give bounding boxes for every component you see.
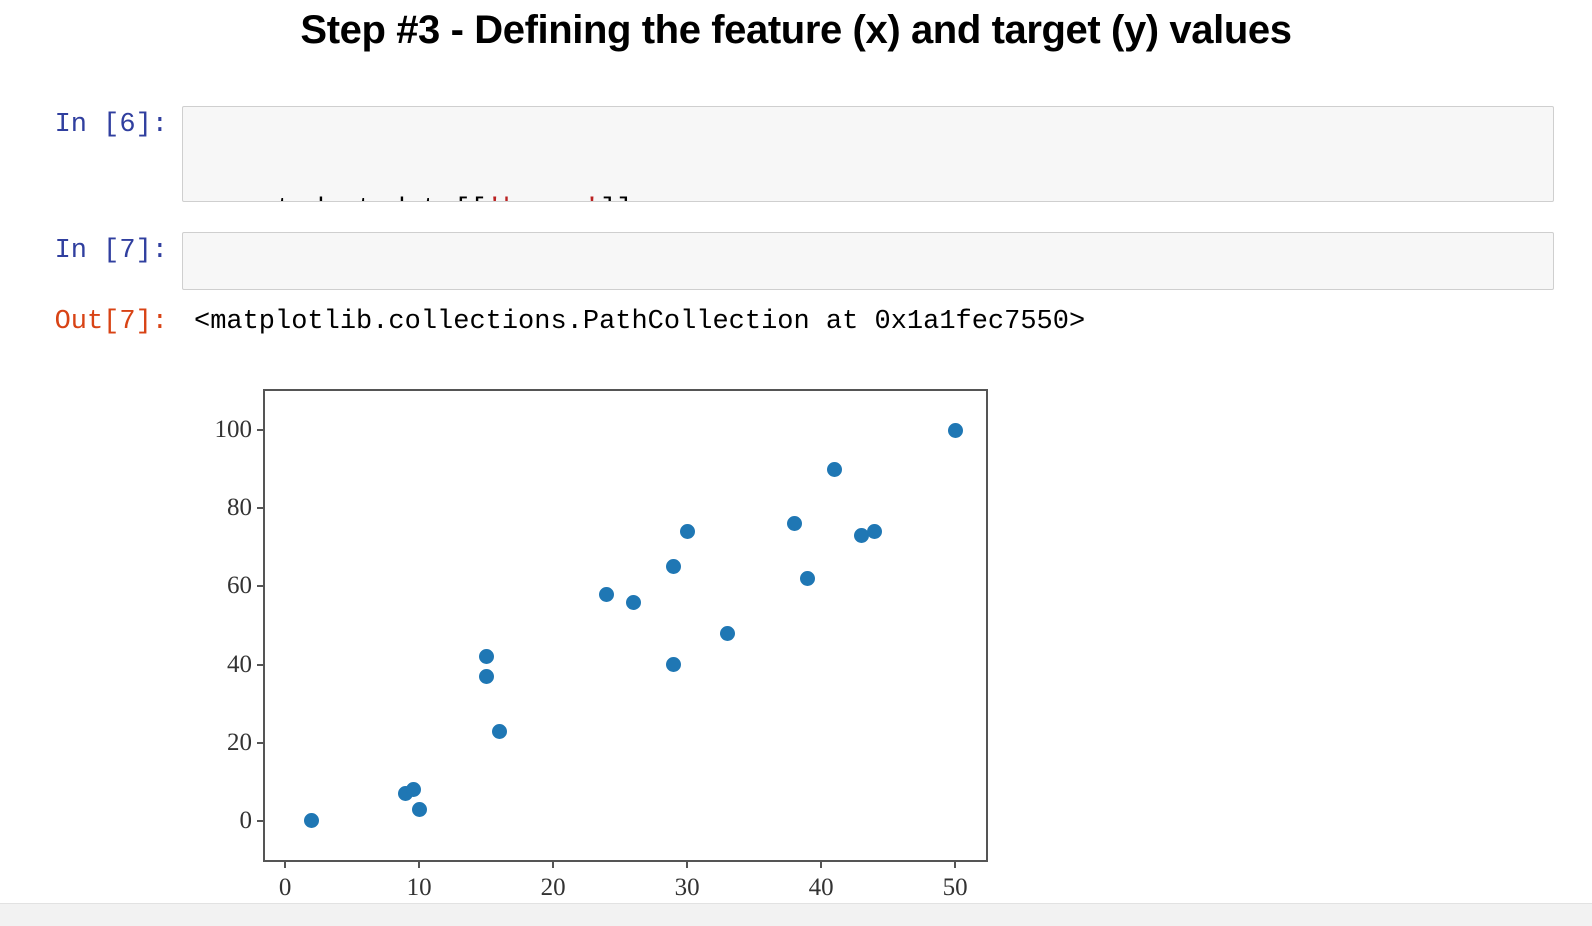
x-axis-tick-label: 0 (279, 874, 292, 902)
scatter-point (867, 524, 882, 539)
y-axis-tick-mark (257, 742, 265, 744)
scatter-point (304, 813, 319, 828)
y-axis-tick-label: 20 (227, 729, 252, 757)
x-axis-tick-mark (686, 860, 688, 868)
code-editor-in-7[interactable]: plt.scatter(x,y) (182, 232, 1554, 290)
scatter-point (479, 649, 494, 664)
y-axis-tick-mark (257, 664, 265, 666)
notebook-cell-in-7[interactable]: In [7]: plt.scatter(x,y) (32, 232, 1592, 290)
code-token: x (195, 195, 227, 202)
scatter-point (479, 669, 494, 684)
x-axis-tick-mark (552, 860, 554, 868)
x-axis-tick-label: 20 (541, 874, 566, 902)
cell-prompt-in-7: In [7]: (32, 232, 182, 270)
x-axis-tick-label: 10 (407, 874, 432, 902)
scatter-point (412, 802, 427, 817)
scatter-point (948, 423, 963, 438)
y-axis-tick-mark (257, 507, 265, 509)
x-axis-tick-label: 40 (809, 874, 834, 902)
x-axis-tick-mark (418, 860, 420, 868)
y-axis-tick-label: 80 (227, 494, 252, 522)
y-axis-tick-mark (257, 820, 265, 822)
cell-output-text: <matplotlib.collections.PathCollection a… (182, 303, 1085, 341)
y-axis-tick-label: 0 (240, 807, 253, 835)
scatter-point (666, 559, 681, 574)
x-axis-tick-label: 30 (675, 874, 700, 902)
matplotlib-figure: 02040608010001020304050 (180, 378, 1010, 908)
code-line: x = student_data[['hours']] (195, 191, 1541, 202)
scatter-point (406, 782, 421, 797)
cell-prompt-in-6: In [6]: (32, 106, 182, 144)
code-editor-in-6[interactable]: x = student_data[['hours']] y = student_… (182, 106, 1554, 202)
y-axis-tick-label: 40 (227, 651, 252, 679)
code-token: student_data[[ (244, 195, 487, 202)
y-axis-tick-label: 100 (215, 416, 253, 444)
x-axis-tick-label: 50 (943, 874, 968, 902)
y-axis-tick-label: 60 (227, 572, 252, 600)
scatter-point (492, 724, 507, 739)
code-token: ]] (600, 195, 632, 202)
y-axis-tick-mark (257, 429, 265, 431)
scatter-point (666, 657, 681, 672)
x-axis-tick-mark (284, 860, 286, 868)
scatter-point (827, 462, 842, 477)
scatter-point (599, 587, 614, 602)
notebook-cell-out-7: Out[7]: <matplotlib.collections.PathColl… (32, 303, 1592, 341)
scatter-point (787, 516, 802, 531)
code-token-operator: = (227, 195, 243, 202)
scatter-point (800, 571, 815, 586)
y-axis-tick-mark (257, 585, 265, 587)
cell-prompt-out-7: Out[7]: (32, 303, 182, 341)
x-axis-tick-mark (954, 860, 956, 868)
window-bottom-strip (0, 903, 1592, 926)
code-token-string: 'hours' (487, 195, 600, 202)
scatter-plot-axes: 02040608010001020304050 (263, 389, 988, 862)
scatter-point (626, 595, 641, 610)
scatter-point (720, 626, 735, 641)
notebook-cell-in-6[interactable]: In [6]: x = student_data[['hours']] y = … (32, 106, 1592, 202)
scatter-point (680, 524, 695, 539)
page-title: Step #3 - Defining the feature (x) and t… (0, 8, 1592, 53)
x-axis-tick-mark (820, 860, 822, 868)
